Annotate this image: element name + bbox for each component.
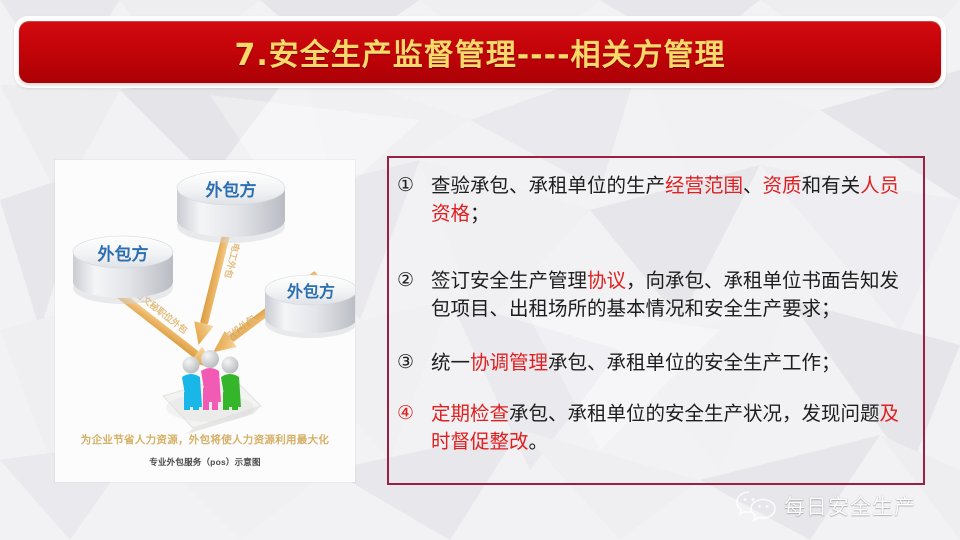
list-item: ④ 定期检查承包、承租单位的安全生产状况，发现问题及时督促整改。 [397,400,913,455]
list-item-body: 统一协调管理承包、承租单位的安全生产工作； [431,349,913,377]
text-segment: ； [470,202,490,225]
list-item-number: ③ [397,349,431,376]
wechat-icon [735,489,777,523]
title-banner: 7.安全生产监督管理----相关方管理 [19,21,941,83]
content-textbox: ① 查验承包、承租单位的生产经营范围、资质和有关人员资格； ② 签订安全生产管理… [387,156,925,485]
watermark: 每日安全生产 [735,482,945,530]
text-segment-accent: 定期检查 [431,402,509,425]
list-item-number: ④ [397,400,431,427]
page-title: 7.安全生产监督管理----相关方管理 [234,30,725,74]
text-segment: 签订安全生产管理 [431,269,587,292]
text-segment-accent: 协调管理 [470,351,548,374]
text-segment: 、 [743,174,763,197]
node-outsourcer-left: 外包方 [73,236,173,304]
node-outsourcer-top: 外包方 [177,171,285,243]
watermark-text: 每日安全生产 [784,491,916,521]
person-green [221,357,241,411]
text-segment: 承包、承租单位的安全生产状况，发现问题 [509,402,880,425]
text-segment: 查验承包、承租单位的生产 [431,174,665,197]
svg-text:外包方: 外包方 [286,282,335,301]
list-item-body: 定期检查承包、承租单位的安全生产状况，发现问题及时督促整改。 [431,400,913,455]
text-segment: 统一 [431,351,470,374]
list-item-number: ② [397,267,431,294]
text-segment: 和有关 [802,174,861,197]
text-segment: 承包、承租单位的安全生产工作； [548,351,841,374]
diagram-caption-main: 为企业节省人力资源，外包将使人力资源利用最大化 [55,432,355,447]
spacer [397,227,913,267]
list-item-body: 签订安全生产管理协议，向承包、承租单位书面告知发包项目、出租场所的基本情况和安全… [431,267,913,322]
diagram-caption-sub: 专业外包服务（pos）示意图 [55,456,355,468]
text-segment-accent: 资质 [763,174,802,197]
title-banner-frame: 7.安全生产监督管理----相关方管理 [14,16,946,88]
list-item: ③ 统一协调管理承包、承租单位的安全生产工作； [397,349,913,377]
spacer [397,323,913,349]
outsourcing-diagram: 前台文秘职位外包 电工外包 司机外包 外包方 [55,160,355,482]
list-item-number: ① [397,172,431,199]
slide-root: 7.安全生产监督管理----相关方管理 [0,0,960,540]
person-blue [182,357,202,411]
svg-text:外包方: 外包方 [98,244,149,265]
person-pink [201,350,221,410]
node-outsourcer-right: 外包方 [265,275,355,338]
spacer [397,376,913,400]
text-segment-accent: 协议 [587,269,626,292]
svg-text:外包方: 外包方 [206,180,257,201]
text-segment-accent: 经营范围 [665,174,743,197]
list-item: ② 签订安全生产管理协议，向承包、承租单位书面告知发包项目、出租场所的基本情况和… [397,267,913,322]
list-item-body: 查验承包、承租单位的生产经营范围、资质和有关人员资格； [431,172,913,227]
text-segment: 。 [529,430,549,453]
list-item: ① 查验承包、承租单位的生产经营范围、资质和有关人员资格； [397,172,913,227]
